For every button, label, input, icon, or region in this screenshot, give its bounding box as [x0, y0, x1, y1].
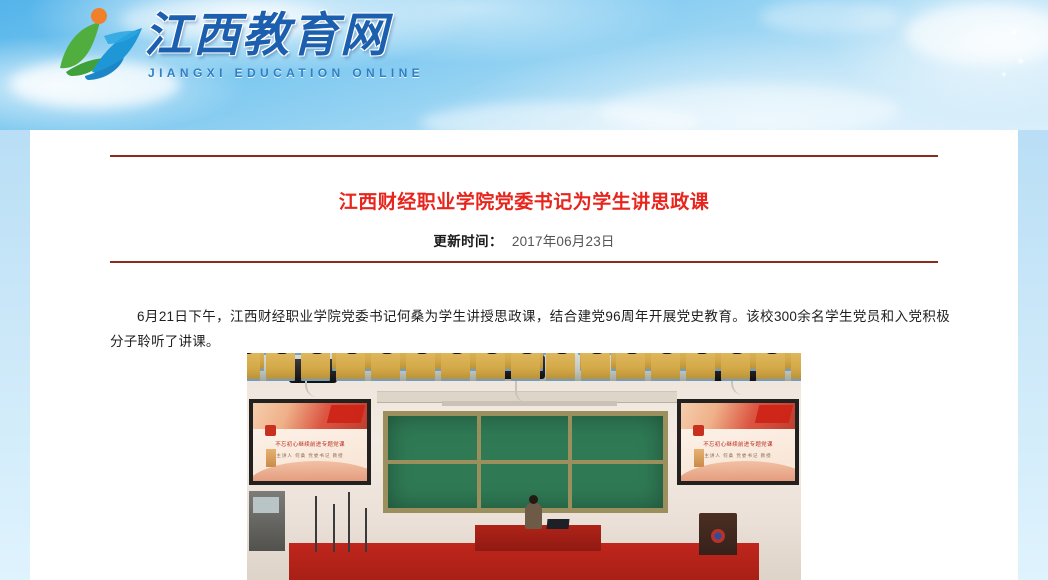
audience-seat: [441, 353, 470, 379]
blackboard: [383, 411, 668, 513]
microphone-stand: [333, 504, 335, 552]
audience-seat: [581, 353, 610, 379]
projection-screen-right: 不忘初心继续前进专题党课 主讲人 何桑 党委书记 教授: [677, 399, 799, 485]
lecture-hall-photo: 不忘初心继续前进专题党课 主讲人 何桑 党委书记 教授 不忘初心继续前进专题党课…: [247, 353, 801, 580]
audience-seating: [247, 353, 801, 379]
audience-seat: [266, 353, 295, 379]
blackboard-divider: [477, 416, 481, 508]
article-meta: 更新时间：2017年06月23日: [30, 230, 1018, 250]
audience-seat: [721, 353, 750, 379]
audience-seat: [371, 353, 400, 379]
audience-seat: [247, 353, 260, 379]
update-time-label: 更新时间：: [433, 234, 503, 249]
audience-seat: [651, 353, 680, 379]
lecturer-head: [529, 495, 538, 504]
slide-title: 不忘初心继续前进专题党课: [686, 439, 791, 447]
bird-icon: ✈: [1001, 70, 1007, 81]
article-body: 6月21日下午，江西财经职业学院党委书记何桑为学生讲授思政课，结合建党96周年开…: [110, 304, 950, 354]
audience-seat: [476, 353, 505, 379]
cloud-decoration: [760, 0, 900, 34]
site-header-banner: ✈ ✈ ✈ 江西教育网 JIANGXI EDUCATION ONLINE: [0, 0, 1048, 130]
divider-bottom: [110, 261, 938, 263]
cloud-decoration: [905, 4, 1048, 64]
microphone-stand: [348, 492, 350, 552]
update-time-value: 2017年06月23日: [512, 234, 615, 249]
logo-wordmark: 江西教育网: [144, 8, 434, 66]
right-margin: [1018, 130, 1048, 580]
audience-seat: [336, 353, 365, 379]
laptop: [546, 519, 569, 529]
page-root: ✈ ✈ ✈ 江西教育网 JIANGXI EDUCATION ONLINE 江西财: [0, 0, 1048, 580]
audience-seat: [511, 353, 540, 379]
audience-seat: [546, 353, 575, 379]
blackboard-divider: [568, 416, 572, 508]
equipment-rack: [249, 491, 285, 551]
audience-seat: [791, 353, 801, 379]
audience-seat: [301, 353, 330, 379]
audience-seat: [406, 353, 435, 379]
audience-seat: [616, 353, 645, 379]
logo-subtitle: JIANGXI EDUCATION ONLINE: [148, 66, 424, 80]
slide-title: 不忘初心继续前进专题党课: [258, 439, 363, 447]
slide-flag-icon: [755, 405, 793, 423]
lecturer: [525, 503, 542, 529]
divider-top: [110, 155, 938, 157]
microphone-stand: [365, 508, 367, 552]
jx-swoosh-logo-icon: [52, 6, 148, 86]
site-logo[interactable]: 江西教育网 JIANGXI EDUCATION ONLINE: [52, 6, 432, 92]
microphone-stand: [315, 496, 317, 552]
audience-seat: [756, 353, 785, 379]
article-sheet: 江西财经职业学院党委书记为学生讲思政课 更新时间：2017年06月23日 6月2…: [30, 130, 1018, 580]
bird-icon: ✈: [1016, 56, 1025, 68]
cloud-decoration: [420, 102, 700, 130]
cloud-decoration: [600, 84, 900, 130]
podium-emblem-icon: [711, 529, 725, 543]
audience-seat: [686, 353, 715, 379]
slide-flag-icon: [327, 405, 365, 423]
page-title: 江西财经职业学院党委书记为学生讲思政课: [30, 187, 1018, 214]
projection-screen-left: 不忘初心继续前进专题党课 主讲人 何桑 党委书记 教授: [249, 399, 371, 485]
slide-emblem-icon: [265, 425, 276, 436]
slide-emblem-icon: [693, 425, 704, 436]
left-margin: [0, 130, 30, 580]
bird-icon: ✈: [1009, 27, 1020, 39]
slide-subtitle: 主讲人 何桑 党委书记 教授: [681, 453, 795, 459]
slide-subtitle: 主讲人 何桑 党委书记 教授: [253, 453, 367, 459]
podium: [699, 513, 737, 555]
